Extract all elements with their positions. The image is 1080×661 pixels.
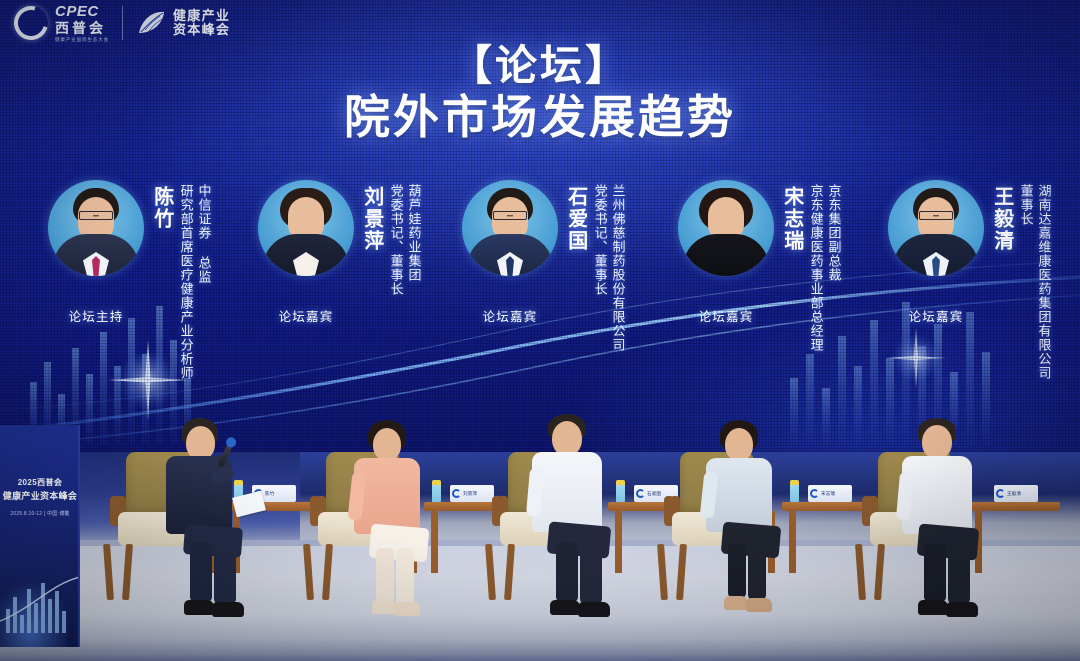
leaf-icon [136, 10, 166, 36]
panelist-5-role: 论坛嘉宾 [888, 306, 984, 325]
panelist-1-org: 中信证券 总监 [196, 184, 212, 380]
banner-line2-label: 健康产业资本峰会 [0, 489, 80, 502]
summit-line2-label: 资本峰会 [173, 23, 230, 38]
panelist-card-1: 陈竹 中信证券 总监 研究部首席医疗健康产业分析师 论坛主持 [48, 180, 212, 450]
headshot-chen-zhu [48, 180, 144, 276]
nameplate-2-text: 刘景萍 [463, 491, 477, 497]
panelist-2-name: 刘景萍 [361, 186, 382, 252]
ring-logo-icon [14, 6, 48, 40]
document-papers [232, 491, 266, 518]
panelist-4-position: 京东健康医药事业部总经理 [808, 184, 824, 352]
panelist-2-org: 葫芦娃药业集团 [406, 184, 422, 296]
panelist-3-position: 党委书记、董事长 [592, 184, 608, 352]
logo-cpec: CPEC 西普会 健康产业国际生态大会 [14, 4, 109, 43]
panelist-4-role: 论坛嘉宾 [678, 306, 774, 325]
summit-line1-label: 健康产业 [173, 9, 230, 24]
panelist-1-role: 论坛主持 [48, 306, 144, 325]
panelist-card-3: 石爱国 兰州佛慈制药股份有限公司 党委书记、董事长 论坛嘉宾 [462, 180, 626, 450]
forum-title: 【论坛】 院外市场发展趋势 [0, 42, 1080, 144]
panelist-4-org: 京东集团副总裁 [826, 184, 842, 352]
headshot-liu-jingping [258, 180, 354, 276]
banner-line3-label: 2025.8.10-12 | 中国·博鳌 [0, 510, 80, 517]
panelist-3-org: 兰州佛慈制药股份有限公司 [610, 184, 626, 352]
panelist-2-role: 论坛嘉宾 [258, 306, 354, 325]
panelist-2-position: 党委书记、董事长 [388, 184, 404, 296]
nameplate-4-text: 宋志瑞 [821, 491, 835, 497]
panelist-5-position: 董事长 [1018, 184, 1034, 380]
headshot-song-zhirui [678, 180, 774, 276]
conference-stage-photo: CPEC 西普会 健康产业国际生态大会 健康产业 资本峰会 【论坛】 [0, 0, 1080, 661]
panelist-3-name: 石爱国 [565, 186, 586, 252]
panelist-strip: 陈竹 中信证券 总监 研究部首席医疗健康产业分析师 论坛主持 刘景萍 葫芦娃药业… [0, 180, 1080, 450]
nameplate-4: 宋志瑞 [808, 485, 852, 502]
panelist-5-name: 王毅清 [991, 186, 1012, 252]
panelist-1-position: 研究部首席医疗健康产业分析师 [178, 184, 194, 380]
panelist-card-2: 刘景萍 葫芦娃药业集团 党委书记、董事长 论坛嘉宾 [258, 180, 422, 450]
forum-topic-label: 院外市场发展趋势 [0, 90, 1080, 144]
panelist-5-org: 湖南达嘉维康医药集团有限公司 [1036, 184, 1052, 380]
panelist-1-name: 陈竹 [151, 186, 172, 230]
headshot-wang-yiqing [888, 180, 984, 276]
rollup-banner: 2025西普会 健康产业资本峰会 2025.8.10-12 | 中国·博鳌 [0, 425, 80, 647]
banner-chart-graphic [0, 569, 80, 633]
cpec-english-label: CPEC [55, 4, 109, 19]
banner-line1-label: 2025西普会 [0, 477, 80, 488]
seated-person-4 [694, 420, 806, 620]
nameplate-5-text: 王毅清 [1007, 491, 1021, 497]
cpec-chinese-label: 西普会 [55, 21, 109, 35]
panelist-4-name: 宋志瑞 [781, 186, 802, 252]
headshot-shi-aiguo [462, 180, 558, 276]
logo-divider [122, 6, 123, 40]
panelist-3-role: 论坛嘉宾 [462, 306, 558, 325]
logo-capital-summit: 健康产业 资本峰会 [136, 9, 230, 38]
seated-person-2 [342, 420, 454, 620]
logo-bar: CPEC 西普会 健康产业国际生态大会 健康产业 资本峰会 [14, 4, 230, 43]
nameplate-2: 刘景萍 [450, 485, 494, 502]
panelist-card-5: 王毅清 湖南达嘉维康医药集团有限公司 董事长 论坛嘉宾 [888, 180, 1052, 450]
forum-bracket-label: 【论坛】 [0, 42, 1080, 89]
cpec-subtitle-label: 健康产业国际生态大会 [55, 38, 109, 43]
panelist-card-4: 宋志瑞 京东集团副总裁 京东健康医药事业部总经理 论坛嘉宾 [678, 180, 842, 450]
nameplate-3-text: 石爱国 [647, 491, 661, 497]
nameplate-logo-icon [810, 489, 819, 498]
